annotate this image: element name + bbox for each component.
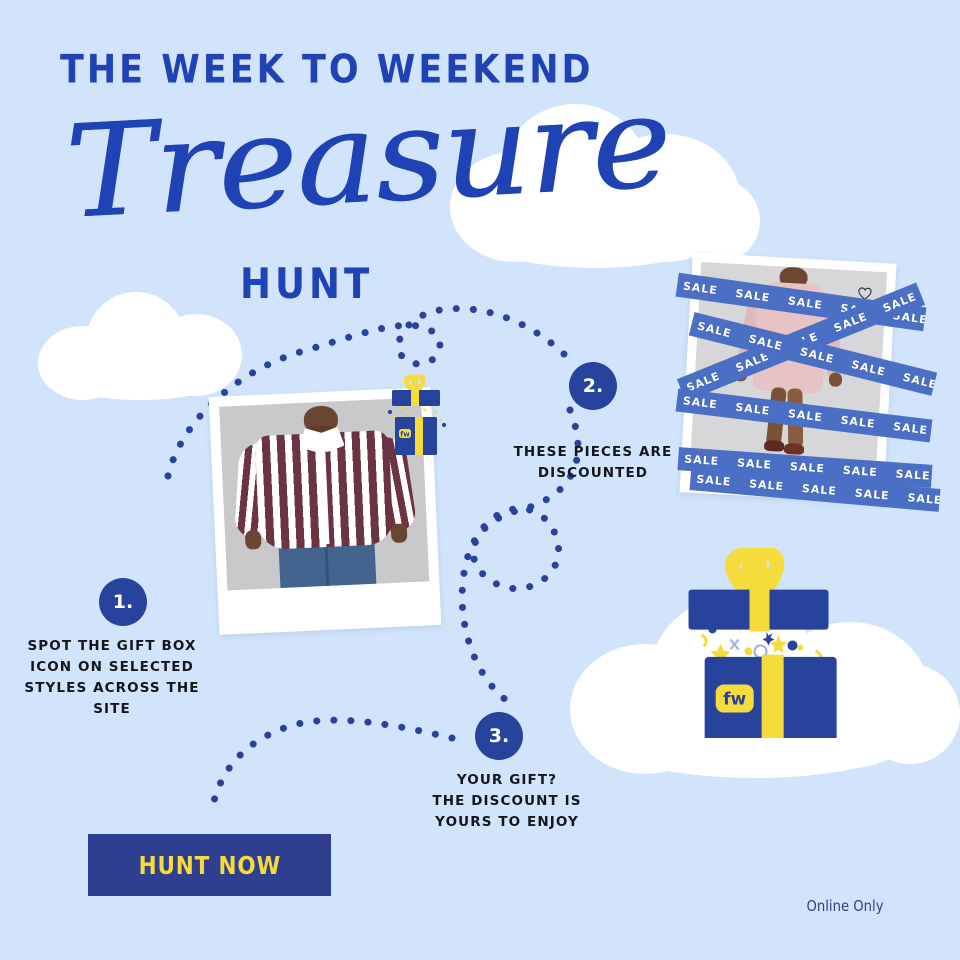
- step-description-3: YOUR GIFT? THE DISCOUNT IS YOURS TO ENJO…: [412, 770, 602, 833]
- sale-tape-label: SALE: [787, 294, 823, 312]
- online-only-note: Online Only: [807, 897, 884, 915]
- hunt-now-label: HUNT NOW: [138, 851, 280, 880]
- sale-tape-label: SALE: [854, 487, 890, 503]
- dress-model-shoe-left: [763, 439, 784, 452]
- sale-tape-label: SALE: [735, 401, 771, 418]
- sale-tape-label: SALE: [749, 477, 785, 493]
- gift-box-icon: fw: [650, 548, 864, 738]
- svg-text:fw: fw: [723, 690, 746, 710]
- step-number: 1.: [113, 591, 133, 613]
- sale-tape-label: SALE: [735, 286, 771, 304]
- sale-tape-label: SALE: [790, 460, 826, 475]
- step-description-1: SPOT THE GIFT BOX ICON ON SELECTED STYLE…: [22, 636, 202, 720]
- dress-model-shoe-right: [784, 442, 805, 455]
- sale-tape-label: SALE: [682, 279, 718, 297]
- sale-tape-label: SALE: [840, 414, 876, 431]
- gift-box-icon: fw: [378, 372, 452, 462]
- step-number: 3.: [489, 725, 509, 747]
- sale-tape-label: SALE: [842, 464, 878, 479]
- sale-tape-label: SALE: [787, 407, 823, 424]
- gift-box-large[interactable]: fw: [650, 548, 864, 738]
- sale-tape-label: SALE: [696, 473, 732, 489]
- sale-tape-label: SALE: [737, 456, 773, 471]
- promo-canvas: THE WEEK TO WEEKEND Treasure HUNT: [0, 0, 960, 960]
- dress-model-hand-right: [829, 373, 843, 387]
- sale-tape-label: SALE: [696, 319, 733, 340]
- gift-box-sticker-small[interactable]: fw: [378, 372, 452, 462]
- step-number: 2.: [583, 375, 603, 397]
- page-subtitle: HUNT: [240, 260, 373, 308]
- step-marker-3: 3.: [475, 712, 523, 760]
- sale-tape-label: SALE: [682, 394, 718, 411]
- model-hand-right: [390, 523, 407, 542]
- hunt-now-button[interactable]: HUNT NOW: [88, 834, 331, 896]
- svg-text:fw: fw: [400, 431, 410, 439]
- sale-tape-label: SALE: [895, 467, 931, 482]
- sale-tape-label: SALE: [892, 420, 928, 437]
- sale-tape-label: SALE: [747, 332, 784, 353]
- page-title: Treasure: [63, 78, 673, 237]
- sale-tape-label: SALE: [799, 345, 836, 366]
- cloud-left: [30, 286, 250, 406]
- step-marker-2: 2.: [569, 362, 617, 410]
- step-marker-1: 1.: [99, 578, 147, 626]
- sale-tape-label: SALE: [907, 491, 941, 507]
- sale-tape-label: SALE: [684, 453, 720, 468]
- model-hand-left: [245, 530, 262, 549]
- sale-tape-label: SALE: [902, 370, 938, 391]
- step-description-2: THESE PIECES ARE DISCOUNTED: [503, 442, 683, 484]
- sale-tape-label: SALE: [850, 357, 887, 378]
- sale-tape-label: SALE: [801, 482, 837, 498]
